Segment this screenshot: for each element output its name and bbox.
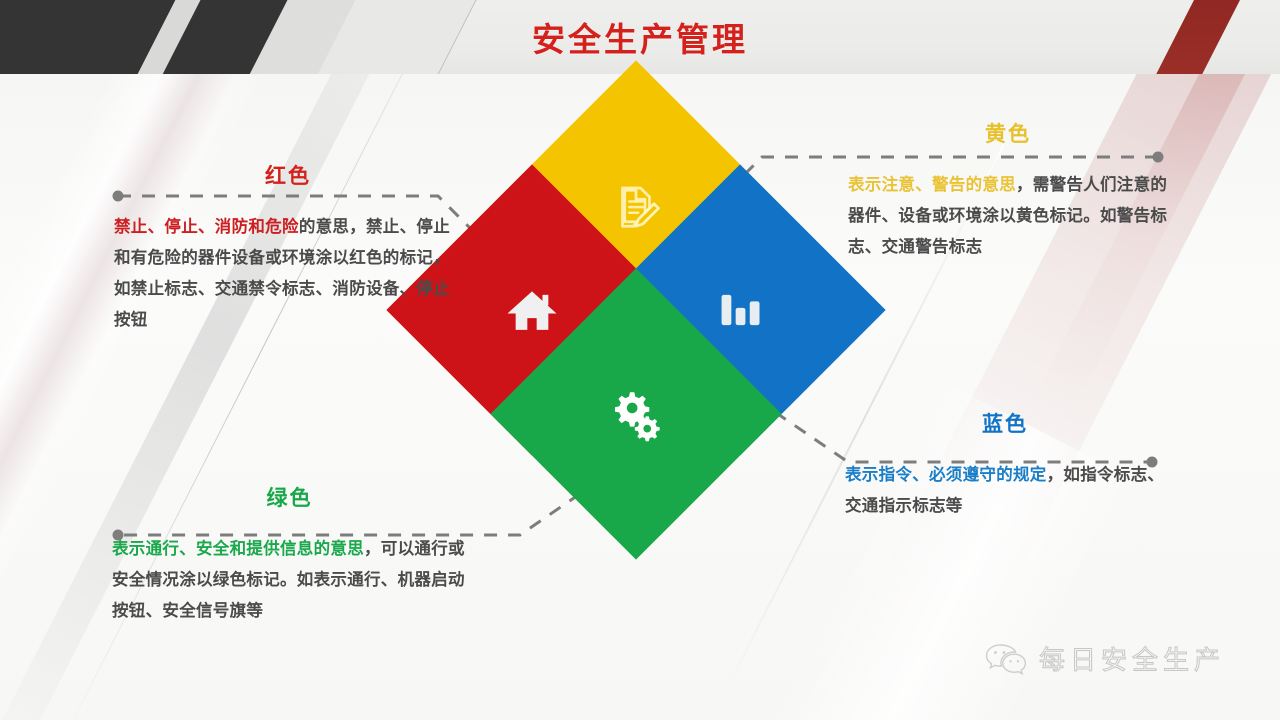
gears-icon: [607, 385, 665, 443]
wechat-icon: [985, 642, 1027, 676]
block-highlight-green: 表示通行、安全和提供信息的意思: [112, 540, 364, 558]
document-edit-icon: [609, 179, 663, 233]
watermark-text: 每日安全生产: [1039, 640, 1225, 677]
text-block-blue: 蓝色 表示指令、必须遵守的规定，如指令标志、交通指示标志等: [845, 408, 1165, 522]
block-highlight-blue: 表示指令、必须遵守的规定: [845, 466, 1047, 484]
home-icon: [504, 282, 560, 338]
block-title-yellow: 黄色: [985, 118, 1031, 148]
block-highlight-yellow: 表示注意、警告的意思: [848, 176, 1016, 194]
block-body-red: 禁止、停止、消防和危险的意思，禁止、停止和有危险的器件设备或环境涂以红色的标记，…: [114, 212, 462, 336]
bar-chart-icon: [714, 284, 766, 336]
block-body-yellow: 表示注意、警告的意思，需警告人们注意的器件、设备或环境涂以黄色标记。如警告标志、…: [848, 170, 1168, 263]
block-body-blue: 表示指令、必须遵守的规定，如指令标志、交通指示标志等: [845, 460, 1165, 522]
diamond-cluster: [432, 145, 840, 535]
block-title-green: 绿色: [267, 482, 313, 512]
text-block-yellow: 黄色 表示注意、警告的意思，需警告人们注意的器件、设备或环境涂以黄色标记。如警告…: [848, 118, 1168, 263]
text-block-green: 绿色 表示通行、安全和提供信息的意思，可以通行或安全情况涂以绿色标记。如表示通行…: [112, 482, 467, 627]
block-title-blue: 蓝色: [982, 408, 1028, 438]
block-title-red: 红色: [265, 160, 311, 190]
watermark: 每日安全生产: [985, 640, 1225, 677]
block-highlight-red: 禁止、停止、消防和危险: [114, 218, 299, 236]
slide-root: 安全生产管理: [0, 0, 1280, 720]
block-body-green: 表示通行、安全和提供信息的意思，可以通行或安全情况涂以绿色标记。如表示通行、机器…: [112, 534, 467, 627]
text-block-red: 红色 禁止、停止、消防和危险的意思，禁止、停止和有危险的器件设备或环境涂以红色的…: [114, 160, 462, 336]
